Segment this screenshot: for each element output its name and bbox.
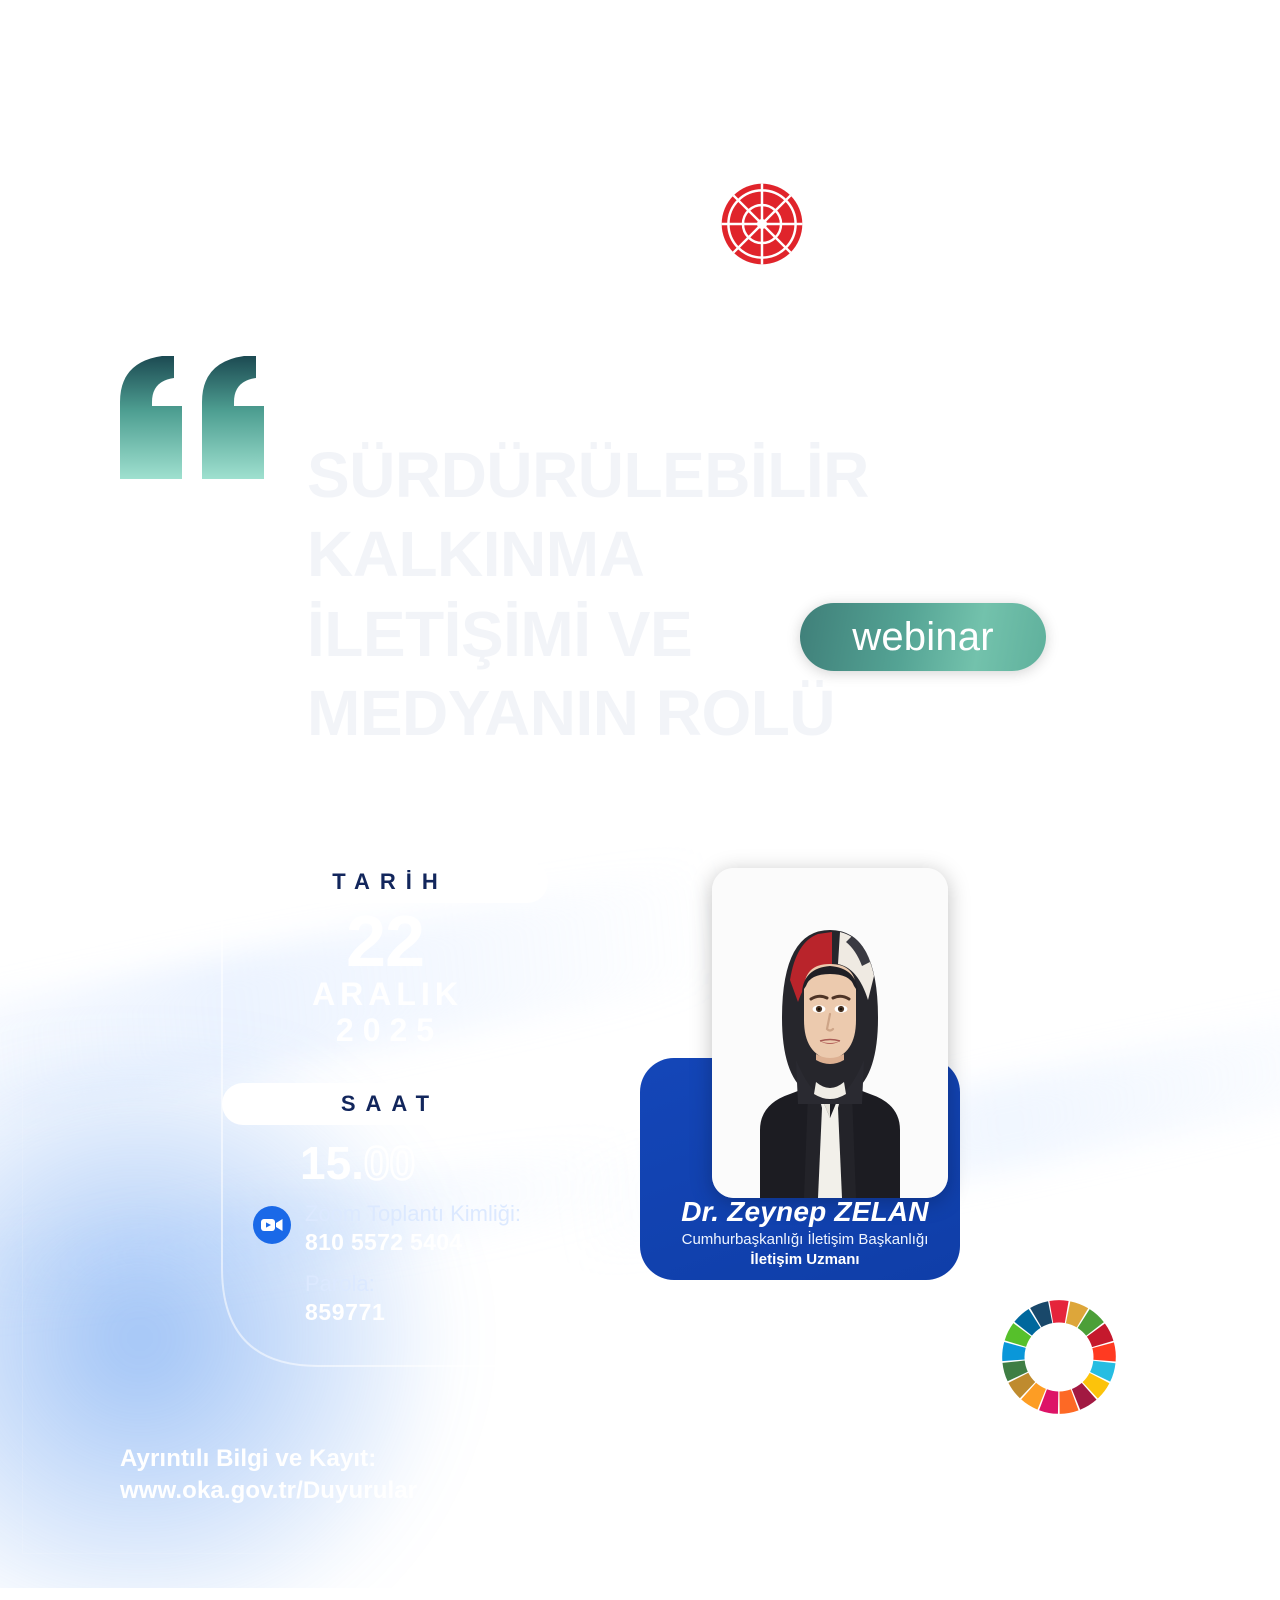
oka-subtitle-tr: ORTA KARADENİZ KALKINMA AJANSI (975, 235, 1135, 255)
hashtag-line-3: HAMLESİ (505, 245, 574, 262)
speaker-organization: Cumhurbaşkanlığı İletişim Başkanlığı (650, 1230, 960, 1249)
ministry-line-2: TEKNOLOJİ BAKANLIĞI (254, 222, 441, 242)
date-value-block: 22 ARALIK 2025 (222, 908, 548, 1049)
social-links: oka.gov.tr (510, 1446, 769, 1475)
x-twitter-icon[interactable] (536, 1451, 555, 1470)
webinar-badge-label: webinar (852, 615, 993, 660)
yerel-kalkinma-hamlesi-logo: YEREL KALKINMA HAMLESİ (481, 180, 599, 264)
time-minute: 00 (364, 1137, 415, 1189)
registration-url[interactable]: www.oka.gov.tr/Duyurular (120, 1475, 417, 1507)
speaker-portrait (712, 868, 948, 1198)
ministry-line-1: T.C. SANAYİ VE (254, 202, 441, 222)
video-camera-icon (253, 1206, 291, 1244)
title-line-2: KALKINMA (307, 522, 947, 587)
oka-rosette-icon (872, 173, 968, 273)
title-line-1: SÜRDÜRÜLEBİLİR (307, 443, 947, 508)
registration-label: Ayrıntılı Bilgi ve Kayıt: (120, 1443, 417, 1475)
date-day: 22 (222, 908, 548, 977)
ministry-name: T.C. SANAYİ VE TEKNOLOJİ BAKANLIĞI (254, 202, 441, 242)
hashtag-line-2: KALKINMA (497, 230, 578, 246)
tc-ministry-seal-icon (172, 187, 242, 257)
zoom-password-block: Parola: 859771 (305, 1271, 385, 1328)
title-line-4: MEDYANIN ROLÜ (307, 681, 947, 746)
globe-icon[interactable] (510, 1451, 529, 1470)
date-month: ARALIK (222, 977, 548, 1012)
background-glow (0, 1058, 520, 1588)
speaker-name: Dr. Zeynep ZELAN (650, 1196, 960, 1227)
instagram-icon[interactable] (588, 1451, 607, 1470)
logo-divider (461, 185, 463, 259)
page-title: SÜRDÜRÜLEBİLİR KALKINMA İLETİŞİMİ VE MED… (307, 443, 947, 760)
sdg-caption-main: KÜRESEL AMAÇLAR (968, 1438, 1150, 1484)
sdg-logo: Sürdürülebilir Kalkınma İçin KÜRESEL AMA… (968, 1296, 1150, 1484)
time-label: SAAT (331, 1091, 439, 1117)
time-label-pill: SAAT (222, 1083, 548, 1125)
date-label: TARİH (322, 869, 448, 895)
oka-letters: OKA (975, 178, 1135, 232)
speaker-role: İletişim Uzmanı (650, 1250, 960, 1269)
sdg-caption-top: Sürdürülebilir Kalkınma İçin (968, 1424, 1150, 1438)
date-year: 2025 (222, 1012, 548, 1049)
speaker-photo-card (712, 868, 948, 1198)
iletisim-baskanligi-seal-icon (706, 168, 818, 280)
speaker-info: Dr. Zeynep ZELAN Cumhurbaşkanlığı İletiş… (650, 1196, 960, 1269)
registration-info: Ayrıntılı Bilgi ve Kayıt: www.oka.gov.tr… (120, 1443, 417, 1508)
footer-domain[interactable]: oka.gov.tr (649, 1446, 769, 1475)
linkedin-icon[interactable] (614, 1451, 633, 1470)
zoom-meeting-id-row: Zoom Toplantı Kimliği: 810 5572 5404 (253, 1201, 521, 1257)
oka-wordmark: OKA ORTA KARADENİZ KALKINMA AJANSI MIDDL… (975, 178, 1135, 263)
webinar-badge: webinar (800, 603, 1046, 671)
sdg-color-wheel-icon (998, 1296, 1120, 1418)
ministry-logo-band: T.C. SANAYİ VE TEKNOLOJİ BAKANLIĞI YEREL… (150, 166, 650, 278)
zoom-id-label: Zoom Toplantı Kimliği: (305, 1201, 521, 1228)
zoom-id-value: 810 5572 5404 (305, 1228, 521, 1257)
webinar-poster: T.C. SANAYİ VE TEKNOLOJİ BAKANLIĞI YEREL… (0, 18, 1280, 1588)
time-value: 15.00 (300, 1136, 415, 1190)
quotation-mark-icon (112, 354, 277, 479)
hashtag-line-1: YEREL (513, 213, 564, 229)
ministry-logo: T.C. SANAYİ VE TEKNOLOJİ BAKANLIĞI (152, 187, 441, 257)
zoom-password-value: 859771 (305, 1298, 385, 1328)
facebook-icon[interactable] (562, 1451, 581, 1470)
zoom-password-label: Parola: (305, 1271, 385, 1298)
oka-subtitle-en: MIDDLE BLACK SEA DEVELOPMENT AGENCY (975, 256, 1135, 263)
date-label-pill: TARİH (222, 861, 548, 903)
time-hour: 15. (300, 1137, 364, 1189)
zoom-meeting-id-text: Zoom Toplantı Kimliği: 810 5572 5404 (305, 1201, 521, 1257)
